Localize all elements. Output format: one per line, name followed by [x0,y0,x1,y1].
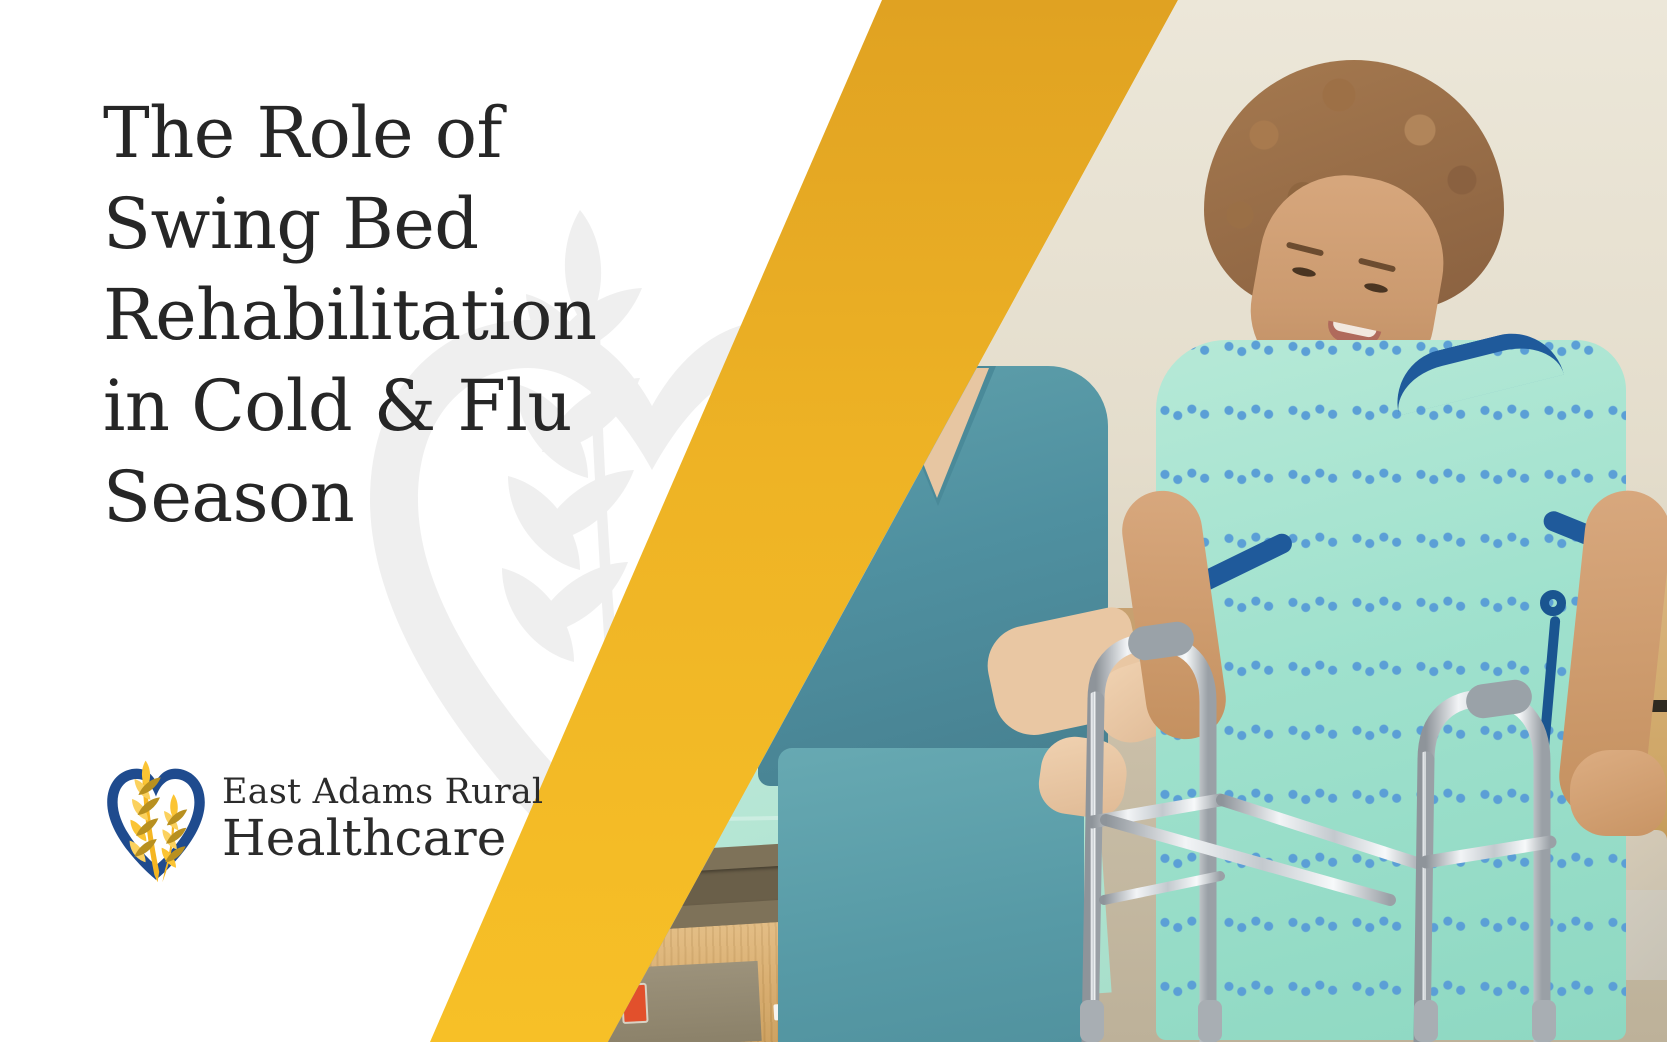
nurse-brow-right [928,222,962,227]
nurse-neck [876,324,960,394]
brand-name-line-2: Healthcare [222,813,543,863]
brand-logo[interactable]: East Adams Rural Healthcare [104,755,543,883]
nurse-mouth [898,286,944,302]
brand-wordmark: East Adams Rural Healthcare [222,775,543,863]
nurse-eye-right [934,242,956,251]
wheat-heart-logo-icon [104,755,208,883]
brand-name-line-1: East Adams Rural [222,775,543,810]
page-title: The Role of Swing Bed Rehabilitation in … [103,88,663,543]
blog-hero-banner: The Role of Swing Bed Rehabilitation in … [0,0,1667,1042]
